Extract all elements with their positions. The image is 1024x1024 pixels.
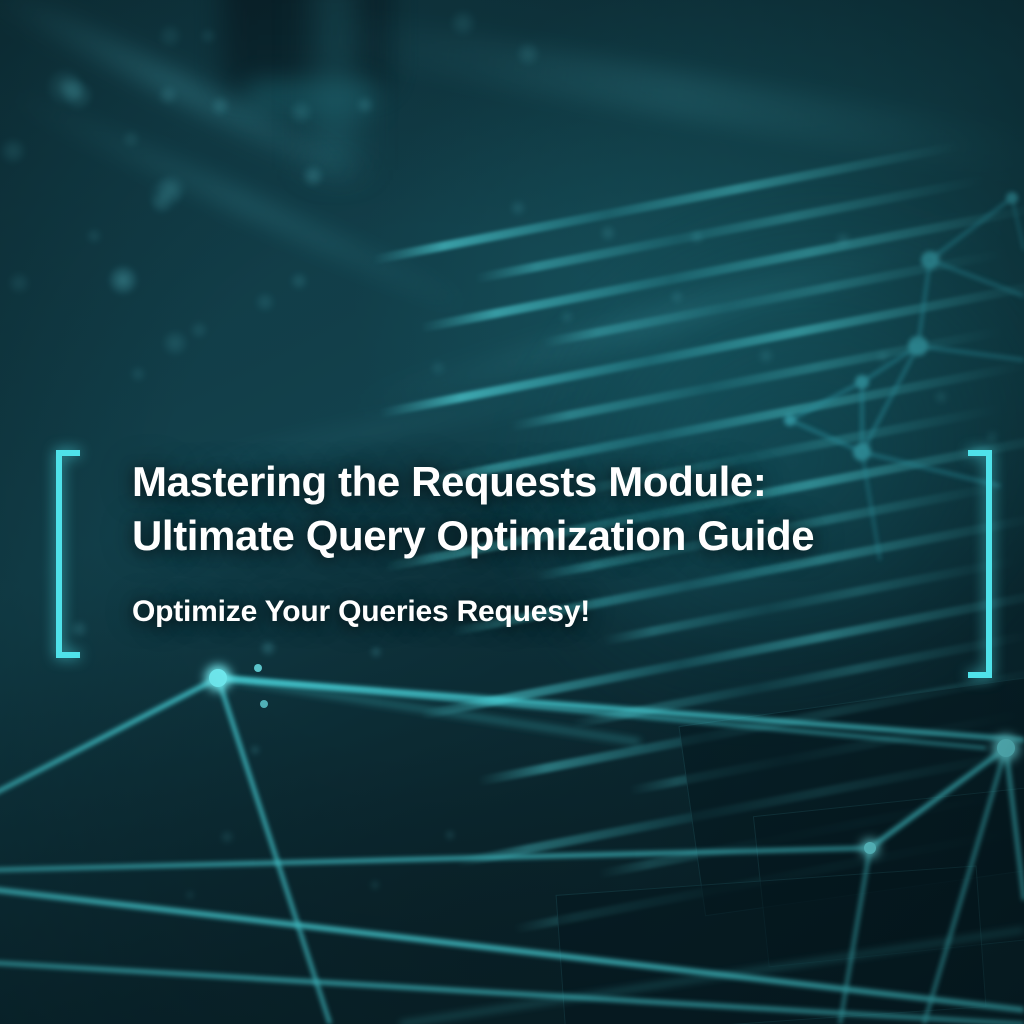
banner-canvas: Mastering the Requests Module: Ultimate … (0, 0, 1024, 1024)
subtitle: Optimize Your Queries Requesy! (132, 592, 932, 632)
left-bracket-decoration (56, 450, 80, 658)
right-bracket-decoration (968, 450, 992, 678)
title-line-1: Mastering the Requests Module: (132, 455, 932, 509)
text-block: Mastering the Requests Module: Ultimate … (132, 455, 932, 632)
title-line-2: Ultimate Query Optimization Guide (132, 509, 932, 563)
